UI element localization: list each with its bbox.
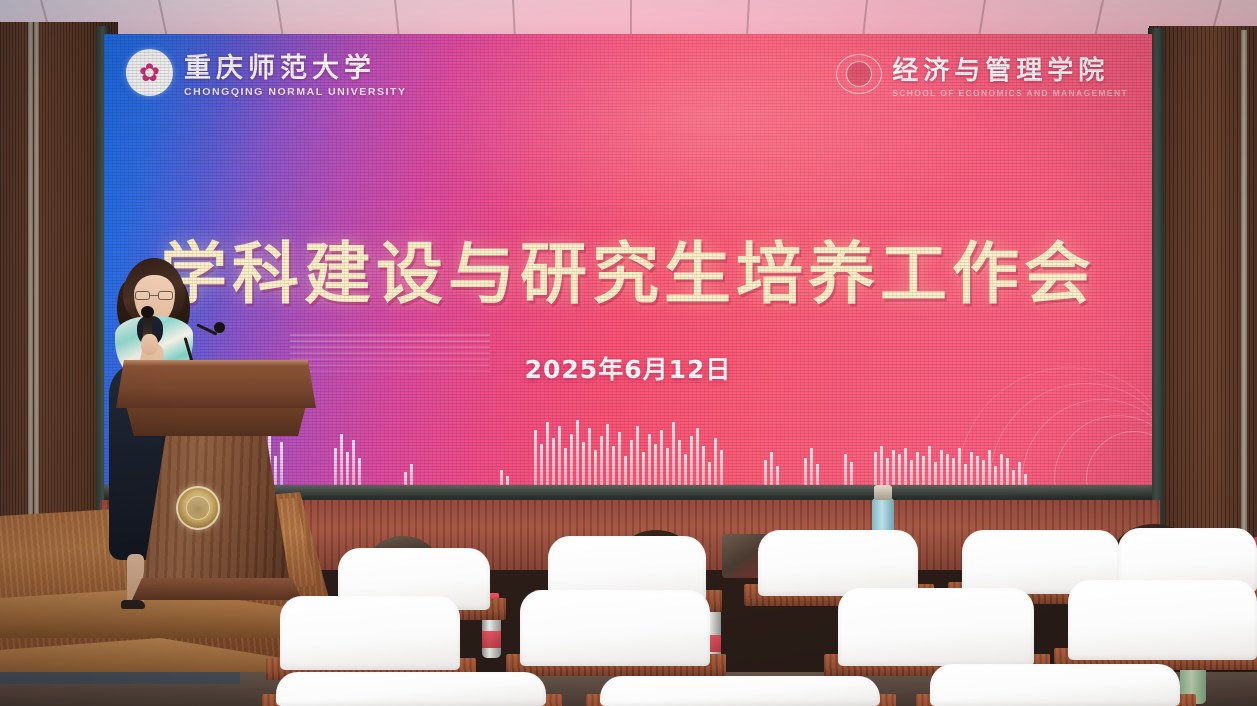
equalizer-bar (546, 422, 549, 492)
left-wall-metal-strip-2 (34, 22, 39, 567)
university-crest-icon (176, 486, 220, 530)
podium-base (132, 578, 302, 600)
decor-arc (1054, 415, 1152, 492)
floor-carpet-strip (0, 672, 240, 684)
audience-seat[interactable] (520, 590, 710, 666)
equalizer-bar (552, 438, 555, 492)
audience-seat[interactable] (276, 672, 546, 706)
audience-seat[interactable] (758, 530, 918, 596)
school-seal-inner (846, 61, 872, 87)
podium-neck (126, 406, 306, 436)
equalizer-bar (576, 420, 579, 492)
conference-photo-scene: ✿ 重庆师范大学 CHONGQING NORMAL UNIVERSITY 经济与… (0, 0, 1257, 706)
decor-hline (290, 340, 490, 342)
equalizer-bar (714, 438, 717, 492)
equalizer-bar (534, 430, 537, 492)
audience-seat[interactable] (600, 676, 880, 706)
decor-arc (1022, 399, 1152, 492)
equalizer-bar (618, 432, 621, 492)
bottle-label (482, 631, 501, 648)
equalizer-bar (648, 434, 651, 492)
school-name-en: SCHOOL OF ECONOMICS AND MANAGEMENT (892, 88, 1128, 98)
glasses-icon (135, 291, 173, 300)
equalizer-bar (588, 428, 591, 492)
microphone-head (141, 306, 154, 318)
decor-arc (1086, 431, 1152, 492)
equalizer-bar (672, 422, 675, 492)
speaker-shoe (121, 600, 145, 609)
equalizer-bar (606, 424, 609, 492)
seal-glyph: ✿ (139, 60, 160, 85)
audience-seat[interactable] (838, 588, 1034, 666)
podium (116, 360, 316, 600)
podium-desktop (116, 360, 316, 408)
right-wall-metal-strip (1241, 30, 1247, 575)
university-name-cn: 重庆师范大学 (184, 46, 407, 85)
university-seal-icon: ✿ (126, 49, 173, 96)
presentation-title: 学科建设与研究生培养工作会 (104, 220, 1152, 317)
podium-microphone-icon (214, 322, 225, 333)
podium-desktop-highlight (124, 360, 308, 366)
speaker-hand (141, 334, 158, 355)
audience-seat[interactable] (280, 596, 460, 670)
school-logo-right: 经济与管理学院 SCHOOL OF ECONOMICS AND MANAGEME… (836, 50, 1128, 98)
left-wall-metal-strip-1 (28, 22, 33, 522)
equalizer-bar (570, 434, 573, 492)
university-logo-text: 重庆师范大学 CHONGQING NORMAL UNIVERSITY (184, 46, 407, 98)
university-name-en: CHONGQING NORMAL UNIVERSITY (184, 86, 407, 98)
equalizer-bar (660, 430, 663, 492)
decor-hline (290, 334, 490, 336)
glasses-bridge (150, 295, 158, 296)
equalizer-bar (636, 426, 639, 492)
school-seal-icon (836, 54, 882, 94)
glasses-lens-right (158, 291, 173, 300)
decor-arc (990, 383, 1152, 492)
equalizer-bar (340, 434, 343, 492)
school-logo-text: 经济与管理学院 SCHOOL OF ECONOMICS AND MANAGEME… (892, 50, 1128, 98)
equalizer-bar (600, 436, 603, 492)
equalizer-bar (558, 426, 561, 492)
audience-seat[interactable] (930, 664, 1180, 706)
thermos-cap (874, 485, 892, 500)
university-logo-left: ✿ 重庆师范大学 CHONGQING NORMAL UNIVERSITY (126, 46, 407, 98)
equalizer-bar (690, 436, 693, 492)
glasses-lens-left (135, 291, 150, 300)
decor-hline (290, 346, 490, 348)
equalizer-bar (696, 428, 699, 492)
crest-inner (186, 496, 210, 520)
school-name-cn: 经济与管理学院 (892, 50, 1128, 87)
audience-seat[interactable] (1068, 580, 1257, 660)
